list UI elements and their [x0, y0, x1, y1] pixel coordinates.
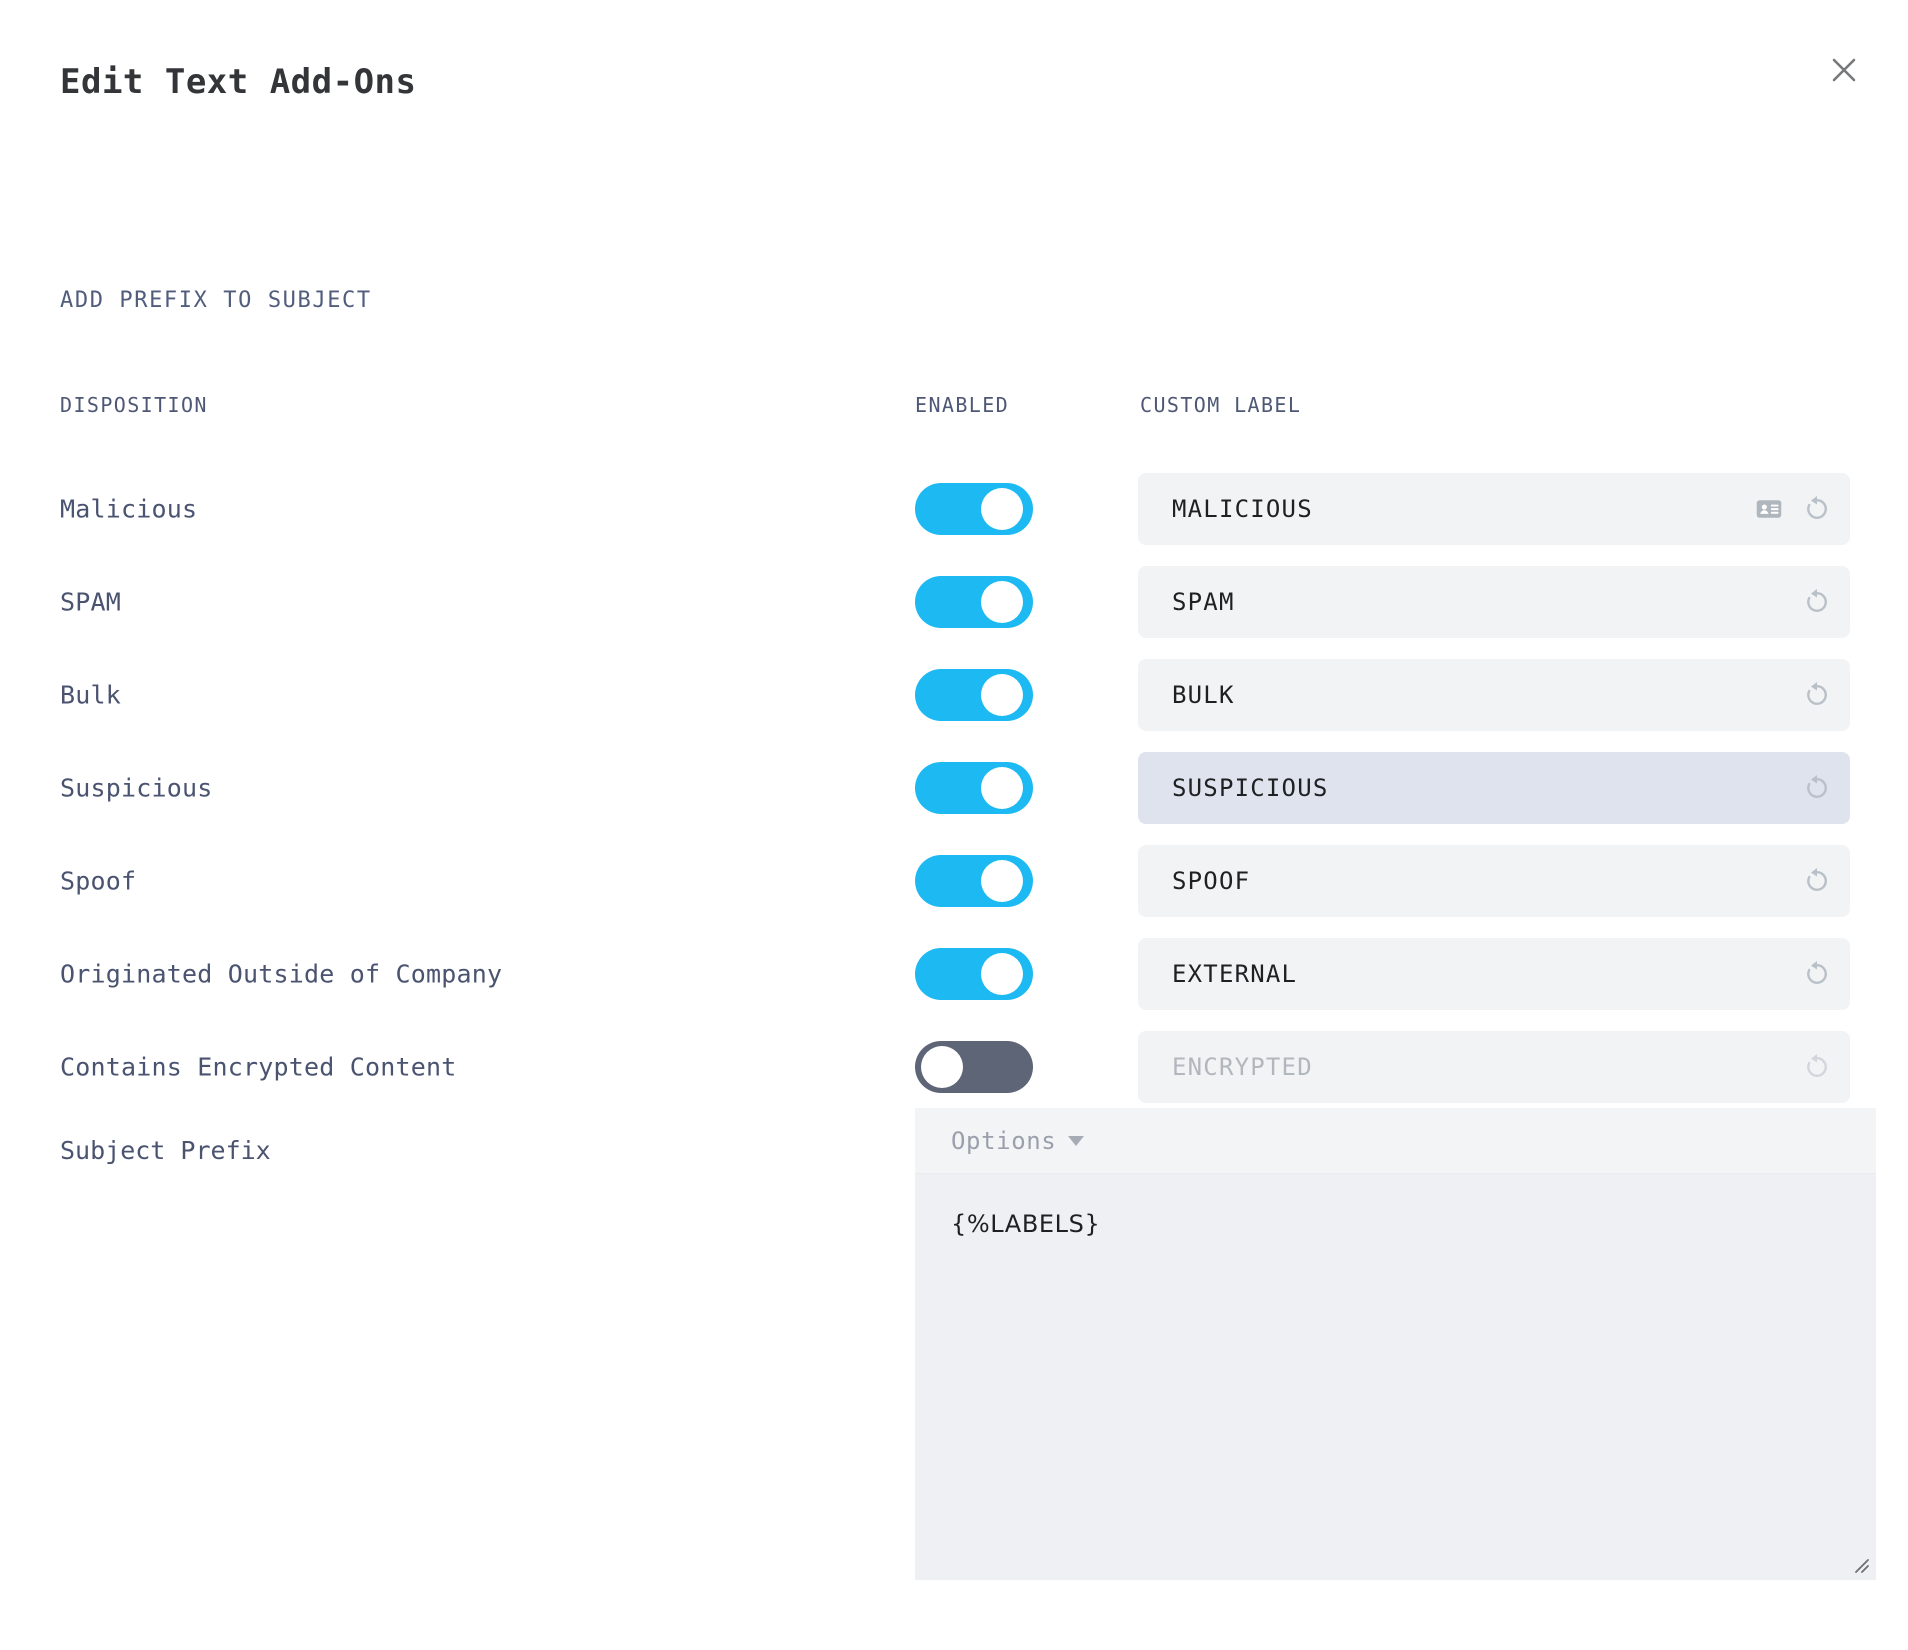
- custom-label-value: SPAM: [1172, 588, 1788, 616]
- table-row: Originated Outside of CompanyEXTERNAL: [0, 927, 1908, 1020]
- toggle-knob: [981, 581, 1023, 623]
- enabled-toggle-originated-outside-of-company[interactable]: [915, 948, 1033, 1000]
- field-icon-group: [1800, 678, 1834, 712]
- enabled-toggle-bulk[interactable]: [915, 669, 1033, 721]
- custom-label-value: MALICIOUS: [1172, 495, 1740, 523]
- toggle-knob: [981, 953, 1023, 995]
- field-icon-group: [1800, 1050, 1834, 1084]
- reset-icon: [1800, 1050, 1834, 1084]
- enabled-toggle-contains-encrypted-content[interactable]: [915, 1041, 1033, 1093]
- enabled-toggle-suspicious[interactable]: [915, 762, 1033, 814]
- table-row: SuspiciousSUSPICIOUS: [0, 741, 1908, 834]
- disposition-label-originated-outside-of-company: Originated Outside of Company: [60, 959, 502, 988]
- subject-prefix-label: Subject Prefix: [60, 1136, 271, 1165]
- enabled-toggle-spoof[interactable]: [915, 855, 1033, 907]
- disposition-label-malicious: Malicious: [60, 494, 197, 523]
- field-icon-group: [1800, 771, 1834, 805]
- enabled-toggle-malicious[interactable]: [915, 483, 1033, 535]
- resize-handle-icon[interactable]: [1848, 1552, 1870, 1574]
- contact-card-icon[interactable]: [1752, 492, 1786, 526]
- toggle-knob: [981, 488, 1023, 530]
- toggle-knob: [981, 767, 1023, 809]
- field-icon-group: [1800, 585, 1834, 619]
- toggle-knob: [981, 860, 1023, 902]
- table-row: SpoofSPOOF: [0, 834, 1908, 927]
- table-row: MaliciousMALICIOUS: [0, 462, 1908, 555]
- page-title: Edit Text Add-Ons: [60, 62, 417, 102]
- field-icon-group: [1800, 957, 1834, 991]
- reset-icon[interactable]: [1800, 957, 1834, 991]
- custom-label-input-originated-outside-of-company[interactable]: EXTERNAL: [1138, 938, 1850, 1010]
- custom-label-value: ENCRYPTED: [1172, 1053, 1788, 1081]
- custom-label-input-suspicious[interactable]: SUSPICIOUS: [1138, 752, 1850, 824]
- reset-icon[interactable]: [1800, 864, 1834, 898]
- section-heading: ADD PREFIX TO SUBJECT: [60, 288, 372, 313]
- reset-icon[interactable]: [1800, 678, 1834, 712]
- close-button[interactable]: [1816, 42, 1872, 98]
- disposition-label-bulk: Bulk: [60, 680, 121, 709]
- table-row: SPAMSPAM: [0, 555, 1908, 648]
- reset-icon[interactable]: [1800, 492, 1834, 526]
- field-icon-group: [1752, 492, 1834, 526]
- column-header-disposition: DISPOSITION: [60, 393, 208, 417]
- custom-label-input-malicious[interactable]: MALICIOUS: [1138, 473, 1850, 545]
- close-icon: [1829, 55, 1859, 85]
- custom-label-value: EXTERNAL: [1172, 960, 1788, 988]
- reset-icon[interactable]: [1800, 771, 1834, 805]
- subject-prefix-value: {%LABELS}: [951, 1210, 1876, 1238]
- disposition-label-contains-encrypted-content: Contains Encrypted Content: [60, 1052, 457, 1081]
- custom-label-value: SUSPICIOUS: [1172, 774, 1788, 802]
- custom-label-input-spam[interactable]: SPAM: [1138, 566, 1850, 638]
- subject-prefix-editor: Options {%LABELS}: [915, 1108, 1876, 1580]
- column-header-enabled: ENABLED: [915, 393, 1009, 417]
- toggle-knob: [981, 674, 1023, 716]
- disposition-label-spoof: Spoof: [60, 866, 136, 895]
- custom-label-input-contains-encrypted-content: ENCRYPTED: [1138, 1031, 1850, 1103]
- custom-label-input-spoof[interactable]: SPOOF: [1138, 845, 1850, 917]
- custom-label-value: BULK: [1172, 681, 1788, 709]
- disposition-rows: MaliciousMALICIOUSSPAMSPAMBulkBULKSuspic…: [0, 462, 1908, 1113]
- toggle-knob: [921, 1046, 963, 1088]
- table-row: Contains Encrypted ContentENCRYPTED: [0, 1020, 1908, 1113]
- subject-prefix-textarea[interactable]: {%LABELS}: [915, 1174, 1876, 1580]
- column-header-custom-label: CUSTOM LABEL: [1140, 393, 1301, 417]
- options-dropdown-button[interactable]: Options: [951, 1127, 1084, 1155]
- disposition-label-suspicious: Suspicious: [60, 773, 213, 802]
- enabled-toggle-spam[interactable]: [915, 576, 1033, 628]
- disposition-label-spam: SPAM: [60, 587, 121, 616]
- reset-icon[interactable]: [1800, 585, 1834, 619]
- custom-label-value: SPOOF: [1172, 867, 1788, 895]
- edit-text-addons-dialog: Edit Text Add-Ons ADD PREFIX TO SUBJECT …: [0, 0, 1908, 1650]
- options-dropdown-label: Options: [951, 1127, 1056, 1155]
- chevron-down-icon: [1068, 1136, 1084, 1146]
- table-row: BulkBULK: [0, 648, 1908, 741]
- field-icon-group: [1800, 864, 1834, 898]
- editor-toolbar: Options: [915, 1108, 1876, 1174]
- custom-label-input-bulk[interactable]: BULK: [1138, 659, 1850, 731]
